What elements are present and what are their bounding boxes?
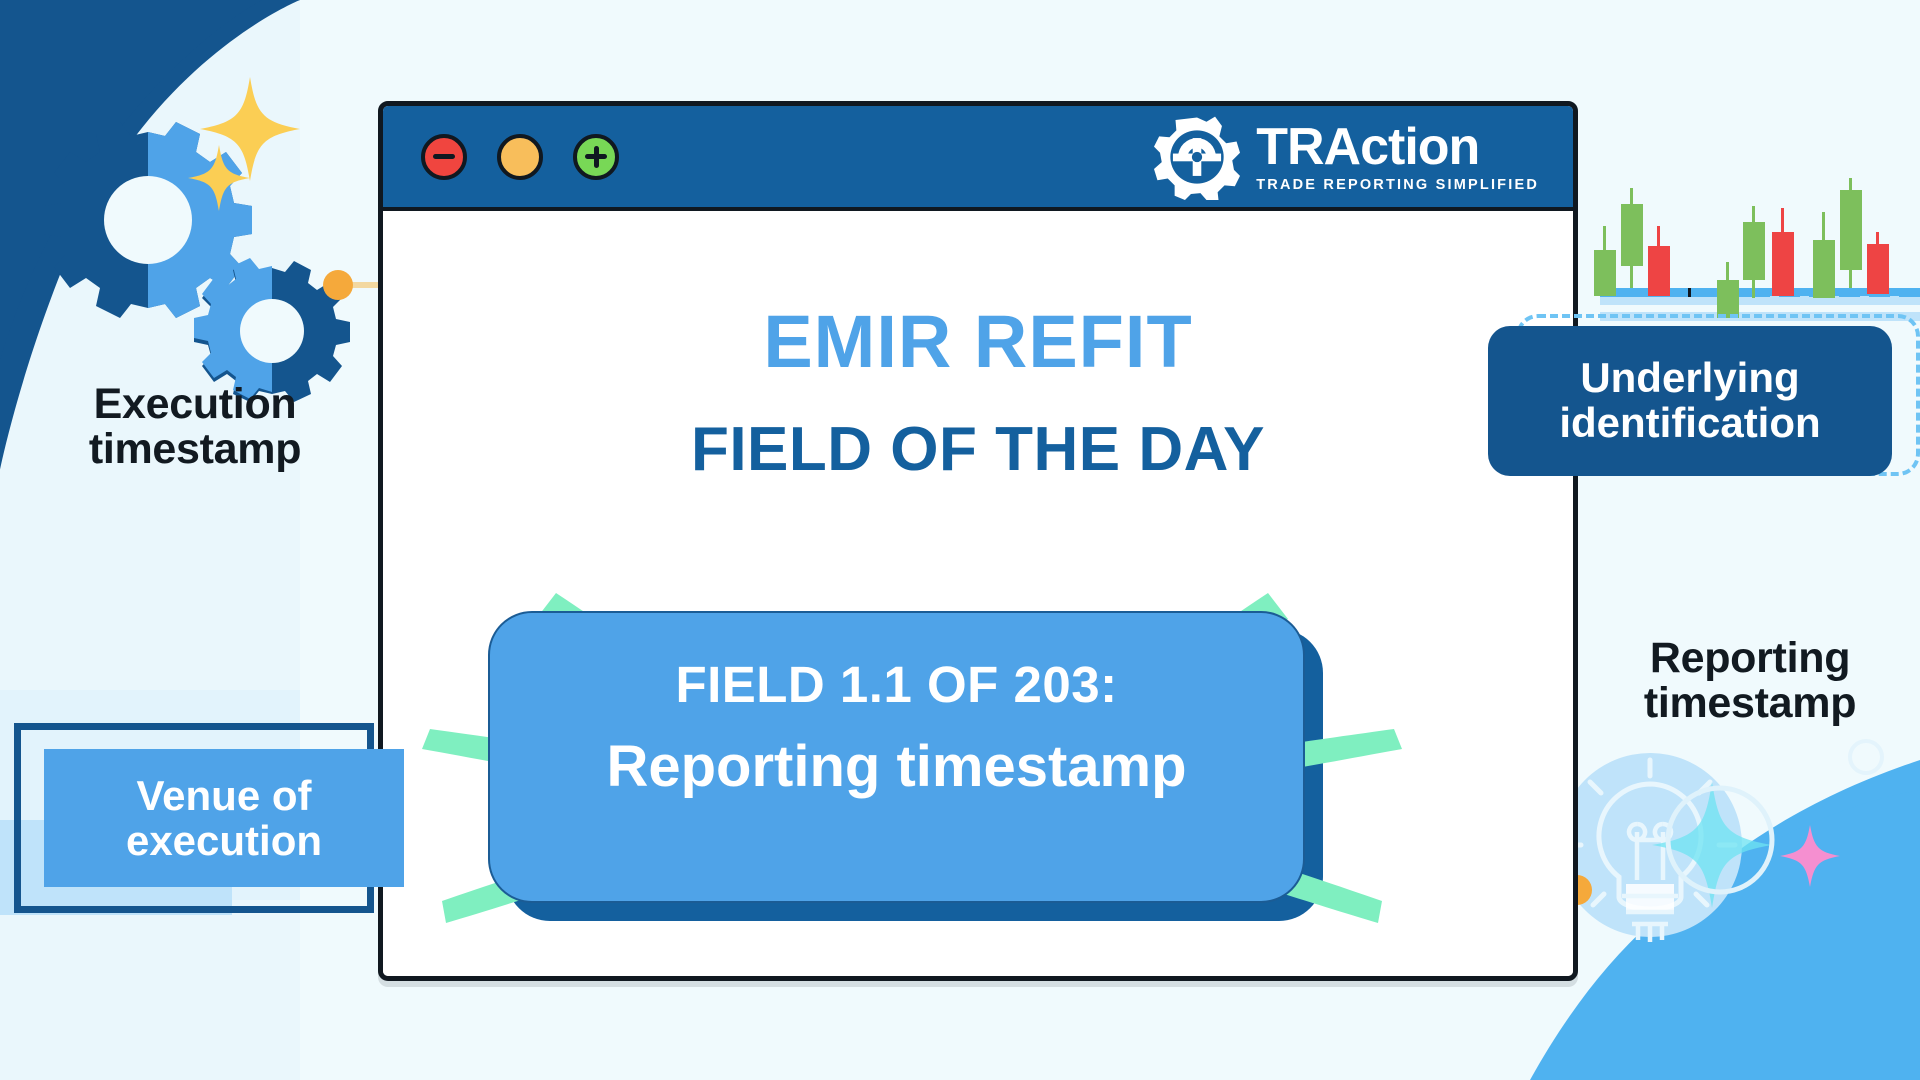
bottom-wave-shape [1560,760,1920,1080]
minimize-button[interactable] [421,134,467,180]
label-execution-timestamp: Executiontimestamp [30,382,360,472]
page-title-secondary: FIELD OF THE DAY [691,414,1265,485]
connector-dot-left [323,270,353,300]
field-card-container: FIELD 1.1 OF 203: Reporting timestamp [488,611,1323,921]
minus-icon [433,154,455,159]
expand-button[interactable] [573,134,619,180]
badge-underlying-identification: Underlyingidentification [1488,320,1920,482]
window-title-bar: TRAction TRADE REPORTING SIMPLIFIED [383,106,1573,211]
page-title-primary: EMIR REFIT [763,299,1192,384]
window-content: EMIR REFIT FIELD OF THE DAY FIE [383,211,1573,981]
maximize-button[interactable] [497,134,543,180]
field-number-label: FIELD 1.1 OF 203: [675,655,1117,714]
poster-canvas: TRAction TRADE REPORTING SIMPLIFIED EMIR… [0,0,1920,1080]
brand-name: TRAction [1256,121,1479,173]
badge-underlying-fill: Underlyingidentification [1488,326,1892,476]
badge-venue-label: Venue ofexecution [126,773,322,864]
field-card: FIELD 1.1 OF 203: Reporting timestamp [488,611,1305,903]
gear-logo-icon [1154,114,1240,200]
label-reporting-timestamp: Reportingtimestamp [1590,636,1910,726]
candlestick-chart-icon [1594,178,1920,321]
brand-logo: TRAction TRADE REPORTING SIMPLIFIED [1154,114,1539,200]
badge-underlying-label: Underlyingidentification [1559,356,1820,445]
badge-venue-of-execution: Venue ofexecution [14,723,374,913]
plus-icon-vertical [594,146,599,168]
gears-icon [44,122,350,402]
window-controls [421,134,619,180]
badge-venue-fill: Venue ofexecution [44,749,404,887]
sparkle-star-icon [188,77,300,211]
browser-window: TRAction TRADE REPORTING SIMPLIFIED EMIR… [378,101,1578,981]
brand-tagline: TRADE REPORTING SIMPLIFIED [1256,178,1539,193]
lightbulb-icon [1558,741,1882,942]
field-name-label: Reporting timestamp [606,736,1186,799]
